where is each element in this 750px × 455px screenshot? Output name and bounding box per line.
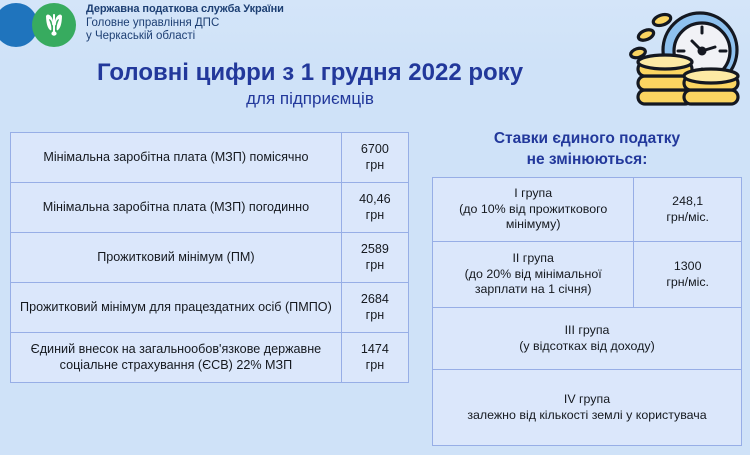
tax-group-cell: ІІ група (до 20% від мінімальної зарплат… <box>433 242 634 308</box>
figure-unit: грн <box>366 258 385 272</box>
title-main-text: Головні цифри з 1 грудня 2022 року <box>0 58 620 87</box>
figure-amount: 2684 <box>361 292 389 306</box>
tax-group-note: залежно від кількості землі у користувач… <box>467 408 706 422</box>
tax-amount-unit: грн/міс. <box>666 210 709 224</box>
tax-amount-value: 1300 <box>674 259 702 273</box>
table-row: ІІ група (до 20% від мінімальної зарплат… <box>433 242 742 308</box>
figure-label: Мінімальна заробітна плата (МЗП) помісяч… <box>11 133 342 183</box>
tax-group-name: ІІ група <box>512 251 553 265</box>
tax-group-cell: IV група залежно від кількості землі у к… <box>433 370 742 446</box>
figure-unit: грн <box>366 158 385 172</box>
figure-value: 1474 грн <box>341 333 408 383</box>
figure-label: Мінімальна заробітна плата (МЗП) погодин… <box>11 183 342 233</box>
org-line-3: у Черкаській області <box>86 30 284 44</box>
org-line-2: Головне управління ДПС <box>86 17 284 31</box>
tax-group-cell: І група (до 10% від прожиткового мінімум… <box>433 178 634 242</box>
table-row: Мінімальна заробітна плата (МЗП) помісяч… <box>11 133 409 183</box>
tax-group-name: IV група <box>564 392 610 406</box>
coins-and-clock-illustration <box>620 2 746 124</box>
tax-amount-unit: грн/міс. <box>666 275 709 289</box>
tax-group-name: ІІІ група <box>565 323 610 337</box>
figure-value: 6700 грн <box>341 133 408 183</box>
tax-amount-cell: 1300 грн/міс. <box>634 242 742 308</box>
tax-group-cell: ІІІ група (у відсотках від доходу) <box>433 308 742 370</box>
table-row: Єдиний внесок на загальнообов'язкове дер… <box>11 333 409 383</box>
dps-logo <box>2 3 80 47</box>
single-tax-heading-line2: не змінюються: <box>428 149 746 170</box>
table-row: Прожитковий мінімум для працездатних осі… <box>11 283 409 333</box>
tax-group-name: І група <box>514 186 552 200</box>
figure-unit: грн <box>366 308 385 322</box>
figure-label: Прожитковий мінімум для працездатних осі… <box>11 283 342 333</box>
figure-unit: грн <box>366 208 385 222</box>
figure-label: Єдиний внесок на загальнообов'язкове дер… <box>11 333 342 383</box>
figure-value: 40,46 грн <box>341 183 408 233</box>
tax-amount-value: 248,1 <box>672 194 703 208</box>
single-tax-heading-line1: Ставки єдиного податку <box>428 128 746 149</box>
figure-amount: 6700 <box>361 142 389 156</box>
tax-group-note: (до 10% від прожиткового мінімуму) <box>459 202 607 232</box>
org-line-1: Державна податкова служба України <box>86 3 284 17</box>
tax-group-note: (до 20% від мінімальної зарплати на 1 сі… <box>465 267 602 297</box>
figure-unit: грн <box>366 358 385 372</box>
key-figures-table: Мінімальна заробітна плата (МЗП) помісяч… <box>10 132 409 383</box>
table-row: Мінімальна заробітна плата (МЗП) погодин… <box>11 183 409 233</box>
table-row: IV група залежно від кількості землі у к… <box>433 370 742 446</box>
ukraine-trident-emblem <box>32 3 76 47</box>
tax-amount-cell: 248,1 грн/міс. <box>634 178 742 242</box>
figure-value: 2684 грн <box>341 283 408 333</box>
figure-value: 2589 грн <box>341 233 408 283</box>
tax-group-note: (у відсотках від доходу) <box>519 339 654 353</box>
single-tax-rates-table: І група (до 10% від прожиткового мінімум… <box>432 177 742 446</box>
figure-amount: 1474 <box>361 342 389 356</box>
coins-clock-svg <box>620 2 746 124</box>
figure-label: Прожитковий мінімум (ПМ) <box>11 233 342 283</box>
figure-amount: 40,46 <box>359 192 391 206</box>
figure-amount: 2589 <box>361 242 389 256</box>
trident-icon <box>43 12 65 38</box>
infographic-page: Державна податкова служба України Головн… <box>0 0 750 455</box>
table-row: ІІІ група (у відсотках від доходу) <box>433 308 742 370</box>
single-tax-heading: Ставки єдиного податку не змінюються: <box>428 128 746 170</box>
page-title: Головні цифри з 1 грудня 2022 року для п… <box>0 58 620 111</box>
coin-stack-right <box>684 69 738 104</box>
org-name-block: Державна податкова служба України Головн… <box>86 3 284 44</box>
table-row: Прожитковий мінімум (ПМ) 2589 грн <box>11 233 409 283</box>
title-subtitle-text: для підприємців <box>0 87 620 111</box>
table-row: І група (до 10% від прожиткового мінімум… <box>433 178 742 242</box>
